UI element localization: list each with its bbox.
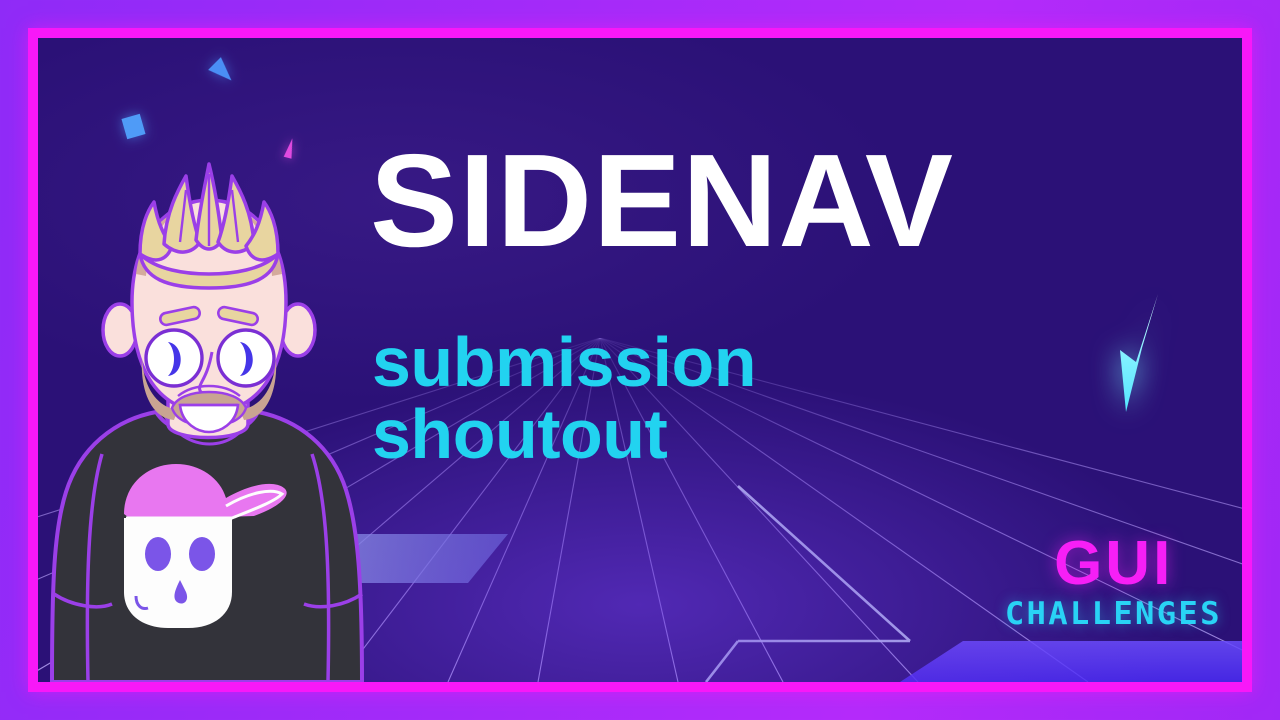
brand-logo-secondary: CHALLENGES — [1005, 596, 1222, 632]
light-shard-cyan-icon — [1108, 288, 1178, 418]
mohawk-developer-avatar — [36, 162, 396, 682]
thumbnail-canvas: SIDENAV submission shoutout GUI CHALLENG… — [0, 0, 1280, 720]
confetti-sliver-magenta-icon — [284, 137, 297, 158]
subtitle: submission shoutout — [372, 326, 756, 470]
brand-logo: GUI CHALLENGES — [1009, 535, 1218, 632]
grid-highlight-cell — [706, 486, 910, 682]
skull-eye-right — [189, 537, 215, 571]
grid-tile-violet — [900, 641, 1242, 682]
skull-eye-left — [145, 537, 171, 571]
confetti-square-blue-icon — [121, 114, 145, 139]
subtitle-line-1: submission — [372, 326, 756, 398]
confetti-triangle-blue-icon — [208, 57, 238, 87]
subtitle-line-2: shoutout — [372, 398, 756, 470]
page-title: SIDENAV — [370, 135, 954, 267]
brand-logo-primary: GUI — [1009, 535, 1218, 594]
